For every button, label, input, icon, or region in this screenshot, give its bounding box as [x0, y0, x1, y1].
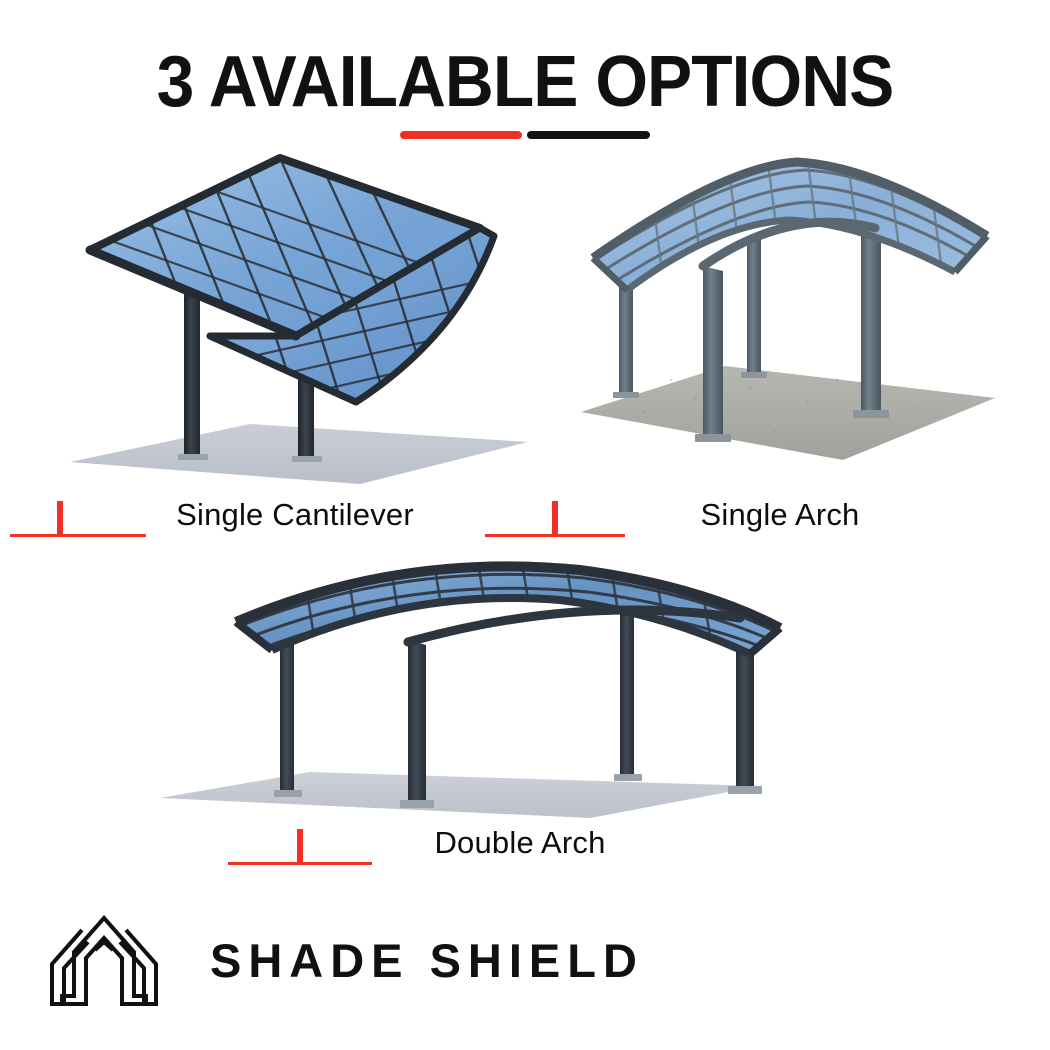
post-base-plate: [614, 774, 642, 781]
product-single-cantilever[interactable]: [60, 140, 530, 490]
arched-roof: [585, 140, 995, 340]
support-post: [747, 236, 761, 378]
caption-single-cantilever: Single Cantilever: [60, 495, 530, 555]
page-title: 3 AVAILABLE OPTIONS: [32, 46, 1019, 118]
arched-roof: [230, 550, 792, 710]
single-cantilever-illustration: [60, 140, 530, 490]
product-double-arch[interactable]: [160, 550, 800, 840]
product-single-arch[interactable]: [575, 140, 1005, 490]
divider-bar-red: [400, 131, 522, 139]
support-post: [408, 640, 426, 806]
double-arch-illustration: [160, 550, 800, 840]
support-post: [620, 594, 634, 780]
post-base-plate: [400, 800, 434, 808]
infographic-page: 3 AVAILABLE OPTIONS: [0, 0, 1050, 1050]
product-label: Single Cantilever: [60, 495, 530, 535]
post-base-plate: [613, 392, 639, 398]
caption-single-arch: Single Arch: [555, 495, 1005, 555]
post-base-plate: [741, 372, 767, 378]
ground-pad: [160, 772, 760, 818]
single-arch-illustration: [575, 140, 1005, 490]
caption-double-arch: Double Arch: [300, 823, 740, 883]
product-label: Double Arch: [300, 823, 740, 863]
post-base-plate: [178, 454, 208, 460]
concrete-pad: [581, 366, 995, 460]
brand-logo[interactable]: SHADE SHIELD: [38, 912, 644, 1008]
post-base-plate: [728, 786, 762, 794]
product-label: Single Arch: [555, 495, 1005, 535]
title-divider: [400, 131, 650, 140]
post-base-plate: [695, 434, 731, 442]
support-post: [703, 266, 723, 440]
post-base-plate: [853, 410, 889, 418]
post-base-plate: [292, 456, 322, 462]
support-post: [280, 630, 294, 796]
brand-name: SHADE SHIELD: [210, 937, 644, 984]
support-post: [861, 226, 881, 416]
divider-bar-black: [527, 131, 650, 139]
gabled-canopy-icon: [38, 912, 170, 1008]
post-base-plate: [274, 790, 302, 797]
